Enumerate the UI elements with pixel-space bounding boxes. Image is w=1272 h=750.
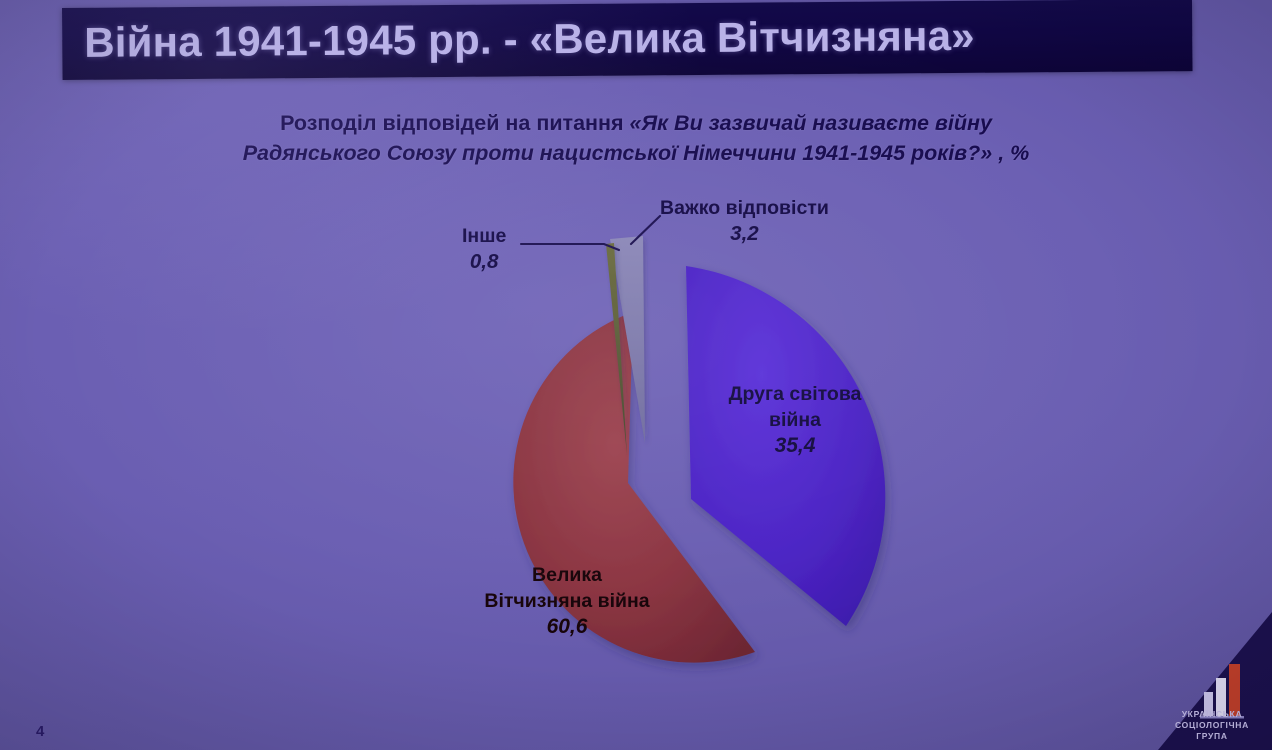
pie-label-second-world-war-value: 35,4 (700, 433, 890, 459)
pie-label-great-patriotic-war: Велика Вітчизняна війна 60,6 (452, 562, 682, 640)
pie-label-hard-to-answer-value: 3,2 (660, 221, 829, 246)
pie-label-other-value: 0,8 (462, 249, 506, 274)
pie-label-great-patriotic-war-line2: Вітчизняна війна (484, 590, 649, 612)
logo-text-line1: УКРАЇНСЬКА (1152, 709, 1272, 720)
organization-logo: УКРАЇНСЬКА СОЦІОЛОГІЧНА ГРУПА (1152, 608, 1272, 750)
page-number: 4 (36, 723, 44, 740)
logo-text-line2: СОЦІОЛОГІЧНА (1152, 720, 1272, 731)
logo-text: УКРАЇНСЬКА СОЦІОЛОГІЧНА ГРУПА (1152, 709, 1272, 742)
leader-line-hard-to-answer (631, 216, 660, 244)
pie-label-other-name: Інше (462, 225, 506, 247)
pie-label-other: Інше 0,8 (462, 224, 506, 274)
leader-line-other (521, 244, 619, 250)
logo-text-line3: ГРУПА (1152, 731, 1272, 742)
slide: Війна 1941-1945 рр. - «Велика Вітчизняна… (0, 0, 1272, 750)
pie-label-second-world-war-line2: війна (769, 409, 821, 431)
pie-label-great-patriotic-war-line1: Велика (532, 564, 602, 586)
pie-label-hard-to-answer: Важко відповісти 3,2 (660, 196, 829, 246)
pie-label-second-world-war: Друга світова війна 35,4 (700, 381, 890, 459)
pie-label-hard-to-answer-name: Важко відповісти (660, 197, 829, 219)
pie-label-second-world-war-line1: Друга світова (729, 383, 862, 405)
pie-label-great-patriotic-war-value: 60,6 (452, 614, 682, 640)
